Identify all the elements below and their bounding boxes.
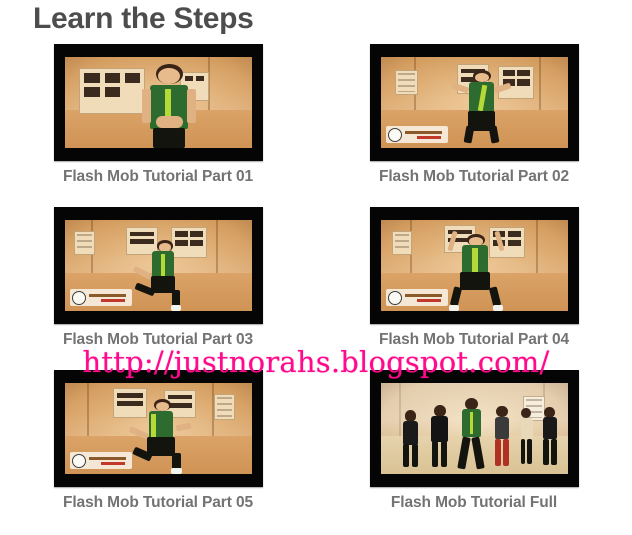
video-still [65,57,252,148]
dancer-figure [425,405,453,467]
video-still [381,220,568,311]
video-row: Flash Mob Tutorial Part 03 [0,207,632,370]
video-item[interactable]: Flash Mob Tutorial Part 03 [0,207,316,370]
wall-poster [74,231,95,255]
video-still [381,57,568,148]
channel-watermark-badge [70,452,132,469]
badge-text-lines [405,294,448,302]
dancer-figure [139,240,188,309]
video-thumbnail-grid: Flash Mob Tutorial Part 01 [0,44,632,533]
wall-edge [539,57,541,110]
badge-logo-icon [388,128,402,142]
video-still [65,220,252,311]
video-thumbnail-part-02[interactable] [370,44,579,161]
video-caption: Flash Mob Tutorial Part 03 [63,331,253,349]
channel-watermark-badge [70,289,132,306]
video-item[interactable]: Flash Mob Tutorial Part 04 [316,207,632,370]
video-thumbnail-part-05[interactable] [54,370,263,487]
video-item[interactable]: Flash Mob Tutorial Full [316,370,632,533]
page-title: Learn the Steps [33,2,254,36]
dancer-figure [455,70,507,146]
wall-edge [536,220,538,273]
video-thumbnail-part-03[interactable] [54,207,263,324]
wall-edge [216,220,218,273]
video-still [381,383,568,474]
badge-text-lines [89,457,132,465]
page-root: Learn the Steps [0,0,632,535]
badge-text-lines [89,294,132,302]
video-still [65,383,252,474]
wall-edge [87,383,89,436]
dancer-figure [136,64,203,148]
dancer-figure [515,408,537,464]
dancer-figure [489,406,515,466]
wall-poster [214,394,235,420]
video-caption: Flash Mob Tutorial Full [391,494,557,512]
video-item[interactable]: Flash Mob Tutorial Part 02 [316,44,632,207]
video-thumbnail-full[interactable] [370,370,579,487]
video-caption: Flash Mob Tutorial Part 01 [63,168,253,186]
video-caption: Flash Mob Tutorial Part 05 [63,494,253,512]
video-caption: Flash Mob Tutorial Part 02 [379,168,569,186]
badge-logo-icon [388,291,402,305]
wall-poster [392,231,413,255]
badge-logo-icon [72,454,86,468]
video-row: Flash Mob Tutorial Part 05 [0,370,632,533]
badge-text-lines [405,131,448,139]
video-item[interactable]: Flash Mob Tutorial Part 05 [0,370,316,533]
dancer-figure-lead [455,398,487,469]
dancer-figure [397,410,423,466]
dancer-figure [136,399,188,472]
dancer-figure [538,407,562,465]
video-caption: Flash Mob Tutorial Part 04 [379,331,569,349]
wall-edge [208,57,210,110]
badge-logo-icon [72,291,86,305]
video-row: Flash Mob Tutorial Part 01 [0,44,632,207]
video-thumbnail-part-04[interactable] [370,207,579,324]
channel-watermark-badge [386,289,448,306]
channel-watermark-badge [386,126,448,143]
video-thumbnail-part-01[interactable] [54,44,263,161]
video-item[interactable]: Flash Mob Tutorial Part 01 [0,44,316,207]
dancer-figure [448,231,504,309]
wall-poster [395,70,418,96]
